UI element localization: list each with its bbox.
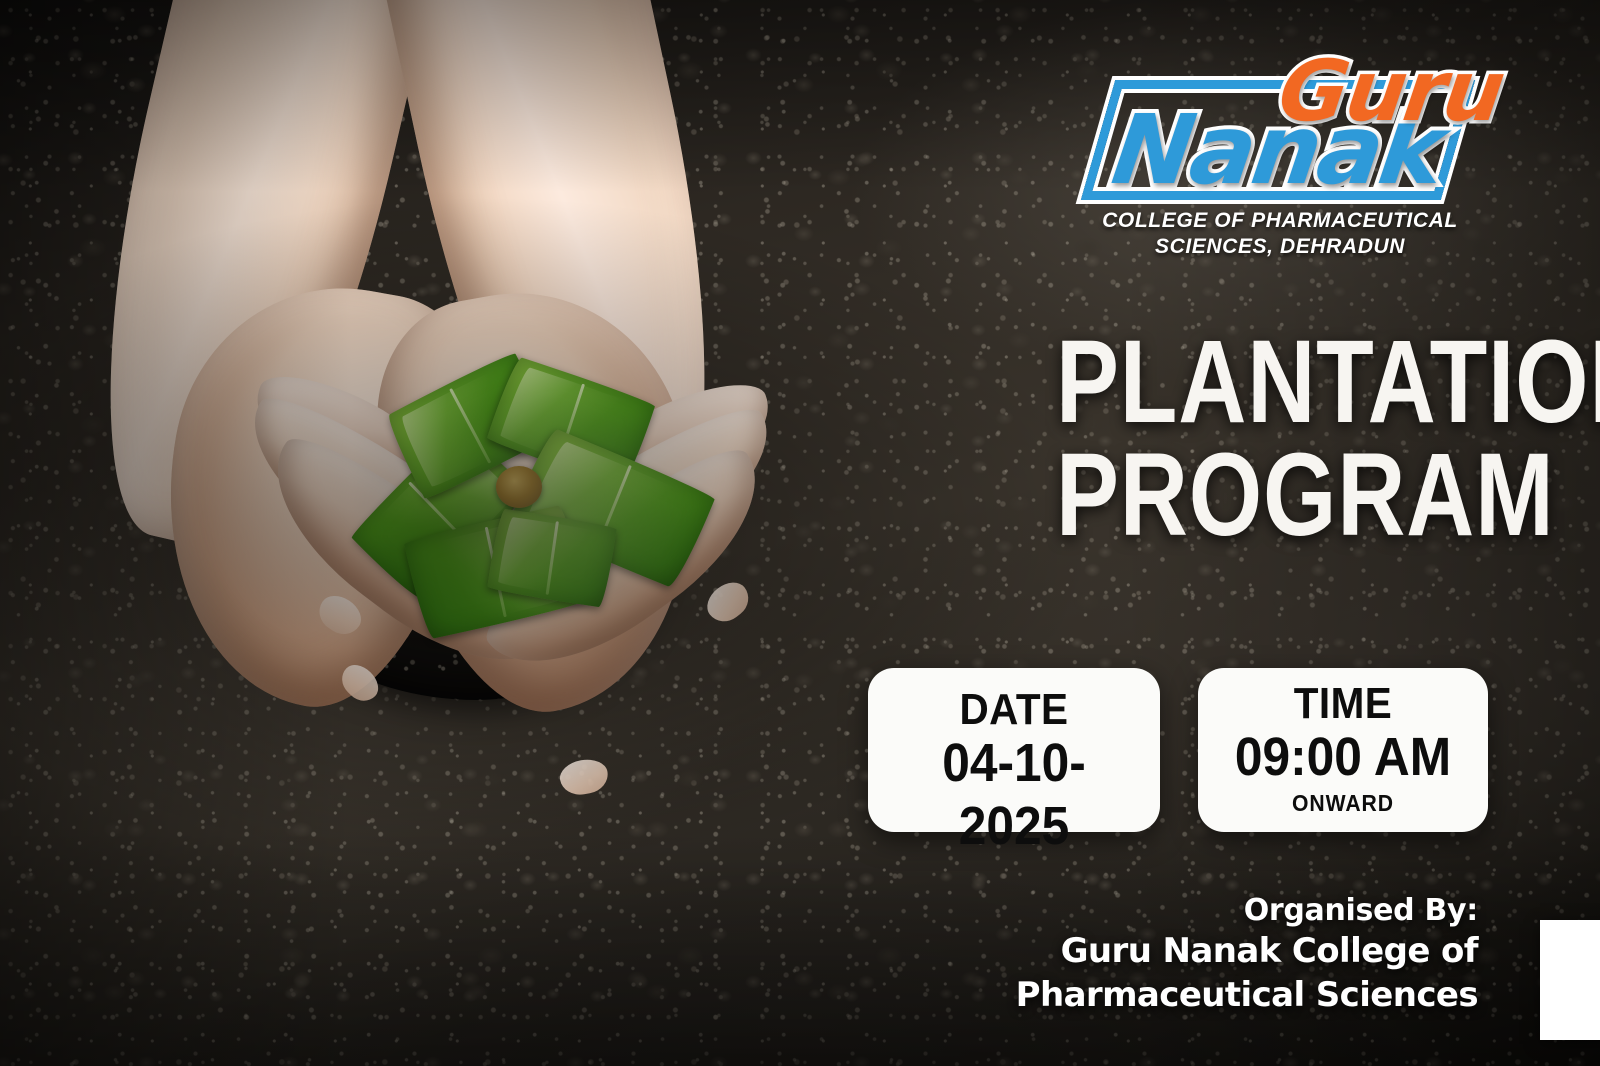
time-card-label: TIME (1224, 682, 1461, 726)
logo-word-guru: Guru (1273, 42, 1509, 140)
organiser-block: Organised By: Guru Nanak College of Phar… (958, 892, 1478, 1017)
organiser-name-line-1: Guru Nanak College of (958, 930, 1478, 974)
date-card-label: DATE (894, 688, 1133, 732)
page-title-line-2: PROGRAM (1056, 439, 1488, 552)
page-title-line-1: PLANTATION (1056, 316, 1600, 448)
time-card: TIME 09:00 AM ONWARD (1198, 668, 1488, 832)
logo-subtitle-line-1: COLLEGE OF PHARMACEUTICAL (1070, 208, 1490, 234)
date-card-value: 04-10-2025 (894, 732, 1133, 857)
time-card-note: ONWARD (1224, 791, 1461, 816)
blank-white-panel (1540, 920, 1600, 1040)
organiser-name-line-2: Pharmaceutical Sciences (958, 974, 1478, 1018)
date-card: DATE 04-10-2025 (868, 668, 1160, 832)
event-info-cards: DATE 04-10-2025 TIME 09:00 AM ONWARD (868, 668, 1488, 832)
plantation-program-poster: Nanak Guru COLLEGE OF PHARMACEUTICAL SCI… (0, 0, 1600, 1066)
page-title: PLANTATION PROGRAM (1056, 326, 1488, 553)
poster-content-column: Nanak Guru COLLEGE OF PHARMACEUTICAL SCI… (900, 0, 1600, 1066)
logo-subtitle-line-2: SCIENCES, DEHRADUN (1070, 234, 1490, 260)
organiser-lead-label: Organised By: (958, 892, 1478, 930)
college-logo: Nanak Guru (1092, 36, 1492, 206)
logo-subtitle: COLLEGE OF PHARMACEUTICAL SCIENCES, DEHR… (1070, 208, 1490, 261)
time-card-value: 09:00 AM (1224, 726, 1461, 789)
